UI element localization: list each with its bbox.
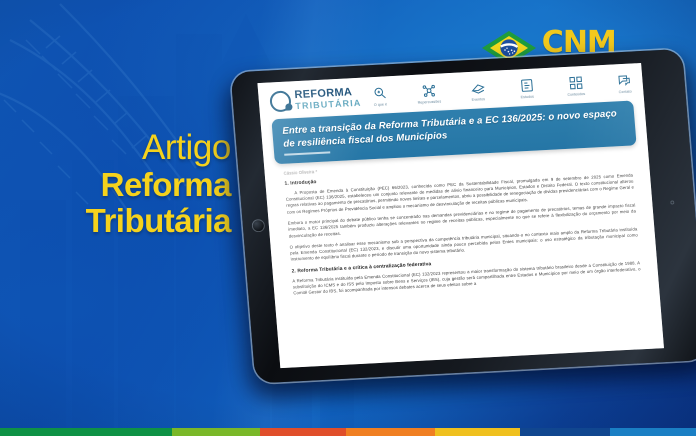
strip-segment-5 [520,428,610,436]
calendar-icon [458,80,497,97]
headline-line-1: Artigo [0,129,231,167]
nav-label: Repercussões [410,99,448,105]
strip-segment-1 [172,428,260,436]
network-icon [409,82,448,99]
page-title: Artigo Reforma Tributária [0,129,231,239]
article-webpage: REFORMA TRIBUTÁRIA [257,63,664,368]
nav-item-repercussoes[interactable]: Repercussões [409,82,449,105]
headline-line-3: Tributária [0,203,231,239]
strip-segment-4 [435,428,520,436]
nav-item-eventos[interactable]: Eventos [458,80,498,103]
strip-segment-2 [260,428,346,436]
nav-label: Acervo [655,86,664,92]
nav-item-contato[interactable]: Contato [605,72,645,95]
logo-secondary-text: TRIBUTÁRIA [295,99,362,111]
headline-line-2: Reforma [0,167,231,203]
nav-label: O que é [361,102,399,108]
front-camera-icon [670,200,674,204]
tablet-screen: REFORMA TRIBUTÁRIA [257,63,664,368]
reforma-tributaria-logo[interactable]: REFORMA TRIBUTÁRIA [269,87,362,113]
title-underline [284,152,330,156]
nav-item-acervo[interactable]: Acervo [654,69,664,92]
tablet-device: REFORMA TRIBUTÁRIA [230,49,696,384]
nav-item-conteudos[interactable]: Conteúdos [556,74,596,97]
strip-segment-0 [0,428,172,436]
article-title: Entre a transição da Reforma Tributária … [282,108,626,151]
idea-icon [360,85,399,102]
strip-segment-3 [346,428,435,436]
nav-label: Estudos [508,94,546,100]
nav-label: Conteúdos [557,91,595,97]
nav-item-o-que-e[interactable]: O que é [360,85,400,108]
tablet-bezel: REFORMA TRIBUTÁRIA [230,49,696,384]
nav-label: Eventos [459,97,497,103]
home-button-icon[interactable] [251,219,265,233]
strip-segment-6 [610,428,696,436]
promotional-banner: CNM CONFEDERAÇÃO NACIONAL DE MUNICÍPIOS … [0,0,696,436]
bottom-color-strip [0,428,696,436]
folder-icon [654,69,664,86]
chat-icon [605,72,644,89]
grid-icon [556,74,595,91]
nav-item-estudos[interactable]: Estudos [507,77,547,100]
document-chart-icon [507,77,546,94]
nav-label: Contato [606,89,644,95]
speech-bubble-icon [269,90,292,112]
